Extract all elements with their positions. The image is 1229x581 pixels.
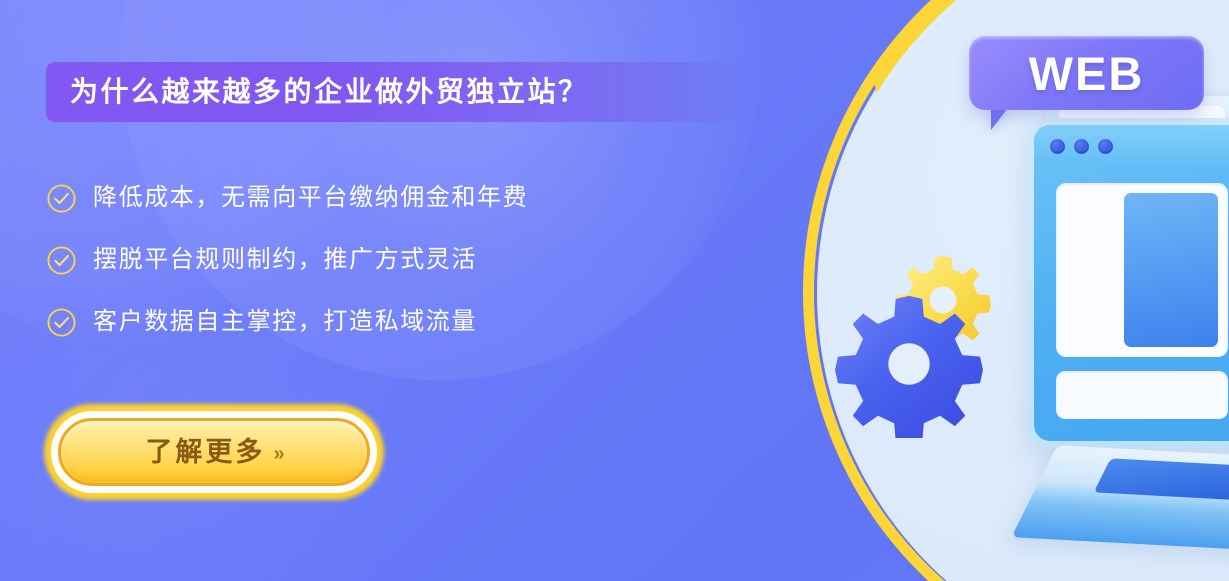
browser-dot-icon	[1098, 139, 1113, 154]
browser-content-block	[1124, 193, 1218, 347]
list-item: 摆脱平台规则制约，推广方式灵活	[46, 229, 806, 291]
cta-label: 了解更多	[145, 439, 265, 466]
laptop-trackpad	[1094, 458, 1229, 500]
speech-bubble-icon: WEB	[969, 36, 1204, 110]
feature-text: 摆脱平台规则制约，推广方式灵活	[93, 248, 477, 272]
feature-text: 客户数据自主掌控，打造私域流量	[93, 310, 477, 334]
web-bubble-label: WEB	[1029, 50, 1145, 97]
feature-list: 降低成本，无需向平台缴纳佣金和年费 摆脱平台规则制约，推广方式灵活 客户数据自主…	[46, 167, 806, 353]
learn-more-button[interactable]: 了解更多 »	[58, 418, 370, 486]
check-circle-icon	[46, 183, 77, 214]
cta-button-wrapper[interactable]: 了解更多 »	[44, 404, 384, 500]
page-title: 为什么越来越多的企业做外贸独立站？	[46, 62, 749, 122]
check-circle-icon	[46, 245, 77, 276]
browser-dot-icon	[1050, 139, 1065, 154]
browser-content-area	[1056, 183, 1228, 357]
browser-toolbar	[1034, 125, 1229, 167]
promo-banner: WEB 为什么越来越多的企业做外贸独立站？ 降低成本，无需向平台缴纳佣金和年费 …	[0, 0, 1229, 581]
list-item: 客户数据自主掌控，打造私域流量	[46, 291, 806, 353]
browser-dot-icon	[1074, 139, 1089, 154]
page-title-text: 为什么越来越多的企业做外贸独立站？	[70, 78, 589, 106]
browser-footer-bar	[1056, 371, 1228, 419]
list-item: 降低成本，无需向平台缴纳佣金和年费	[46, 167, 806, 229]
browser-window-icon	[1027, 118, 1229, 448]
check-circle-icon	[46, 307, 77, 338]
content-column: 为什么越来越多的企业做外贸独立站？ 降低成本，无需向平台缴纳佣金和年费 摆脱平台…	[0, 0, 900, 581]
feature-text: 降低成本，无需向平台缴纳佣金和年费	[93, 186, 528, 210]
chevron-double-right-icon: »	[273, 444, 282, 464]
browser-window-inner	[1034, 125, 1229, 441]
